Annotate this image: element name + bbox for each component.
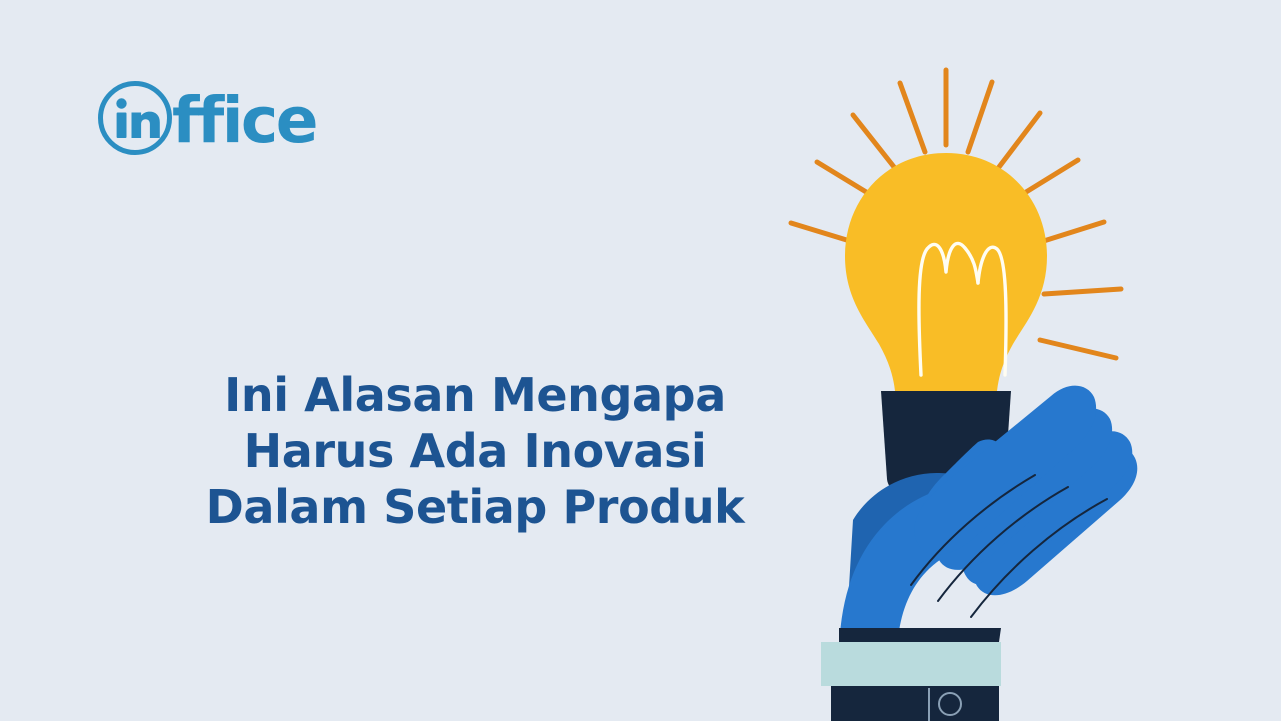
headline-line-1: Ini Alasan Mengapa <box>150 368 800 424</box>
brand-logo[interactable]: ffice <box>96 78 316 158</box>
banner-canvas: ffice Ini Alasan Mengapa Harus Ada Inova… <box>0 0 1281 721</box>
hand-holding-lightbulb-illustration <box>735 40 1175 721</box>
in-circle-logo-icon <box>96 79 174 157</box>
logo-wordmark: ffice <box>172 89 316 152</box>
sleeve-cuff <box>821 642 1001 686</box>
headline-line-2: Harus Ada Inovasi <box>150 424 800 480</box>
wrist-shadow-band <box>839 628 1001 642</box>
page-title: Ini Alasan Mengapa Harus Ada Inovasi Dal… <box>150 368 800 536</box>
headline-line-3: Dalam Setiap Produk <box>150 480 800 536</box>
sleeve <box>831 686 999 721</box>
